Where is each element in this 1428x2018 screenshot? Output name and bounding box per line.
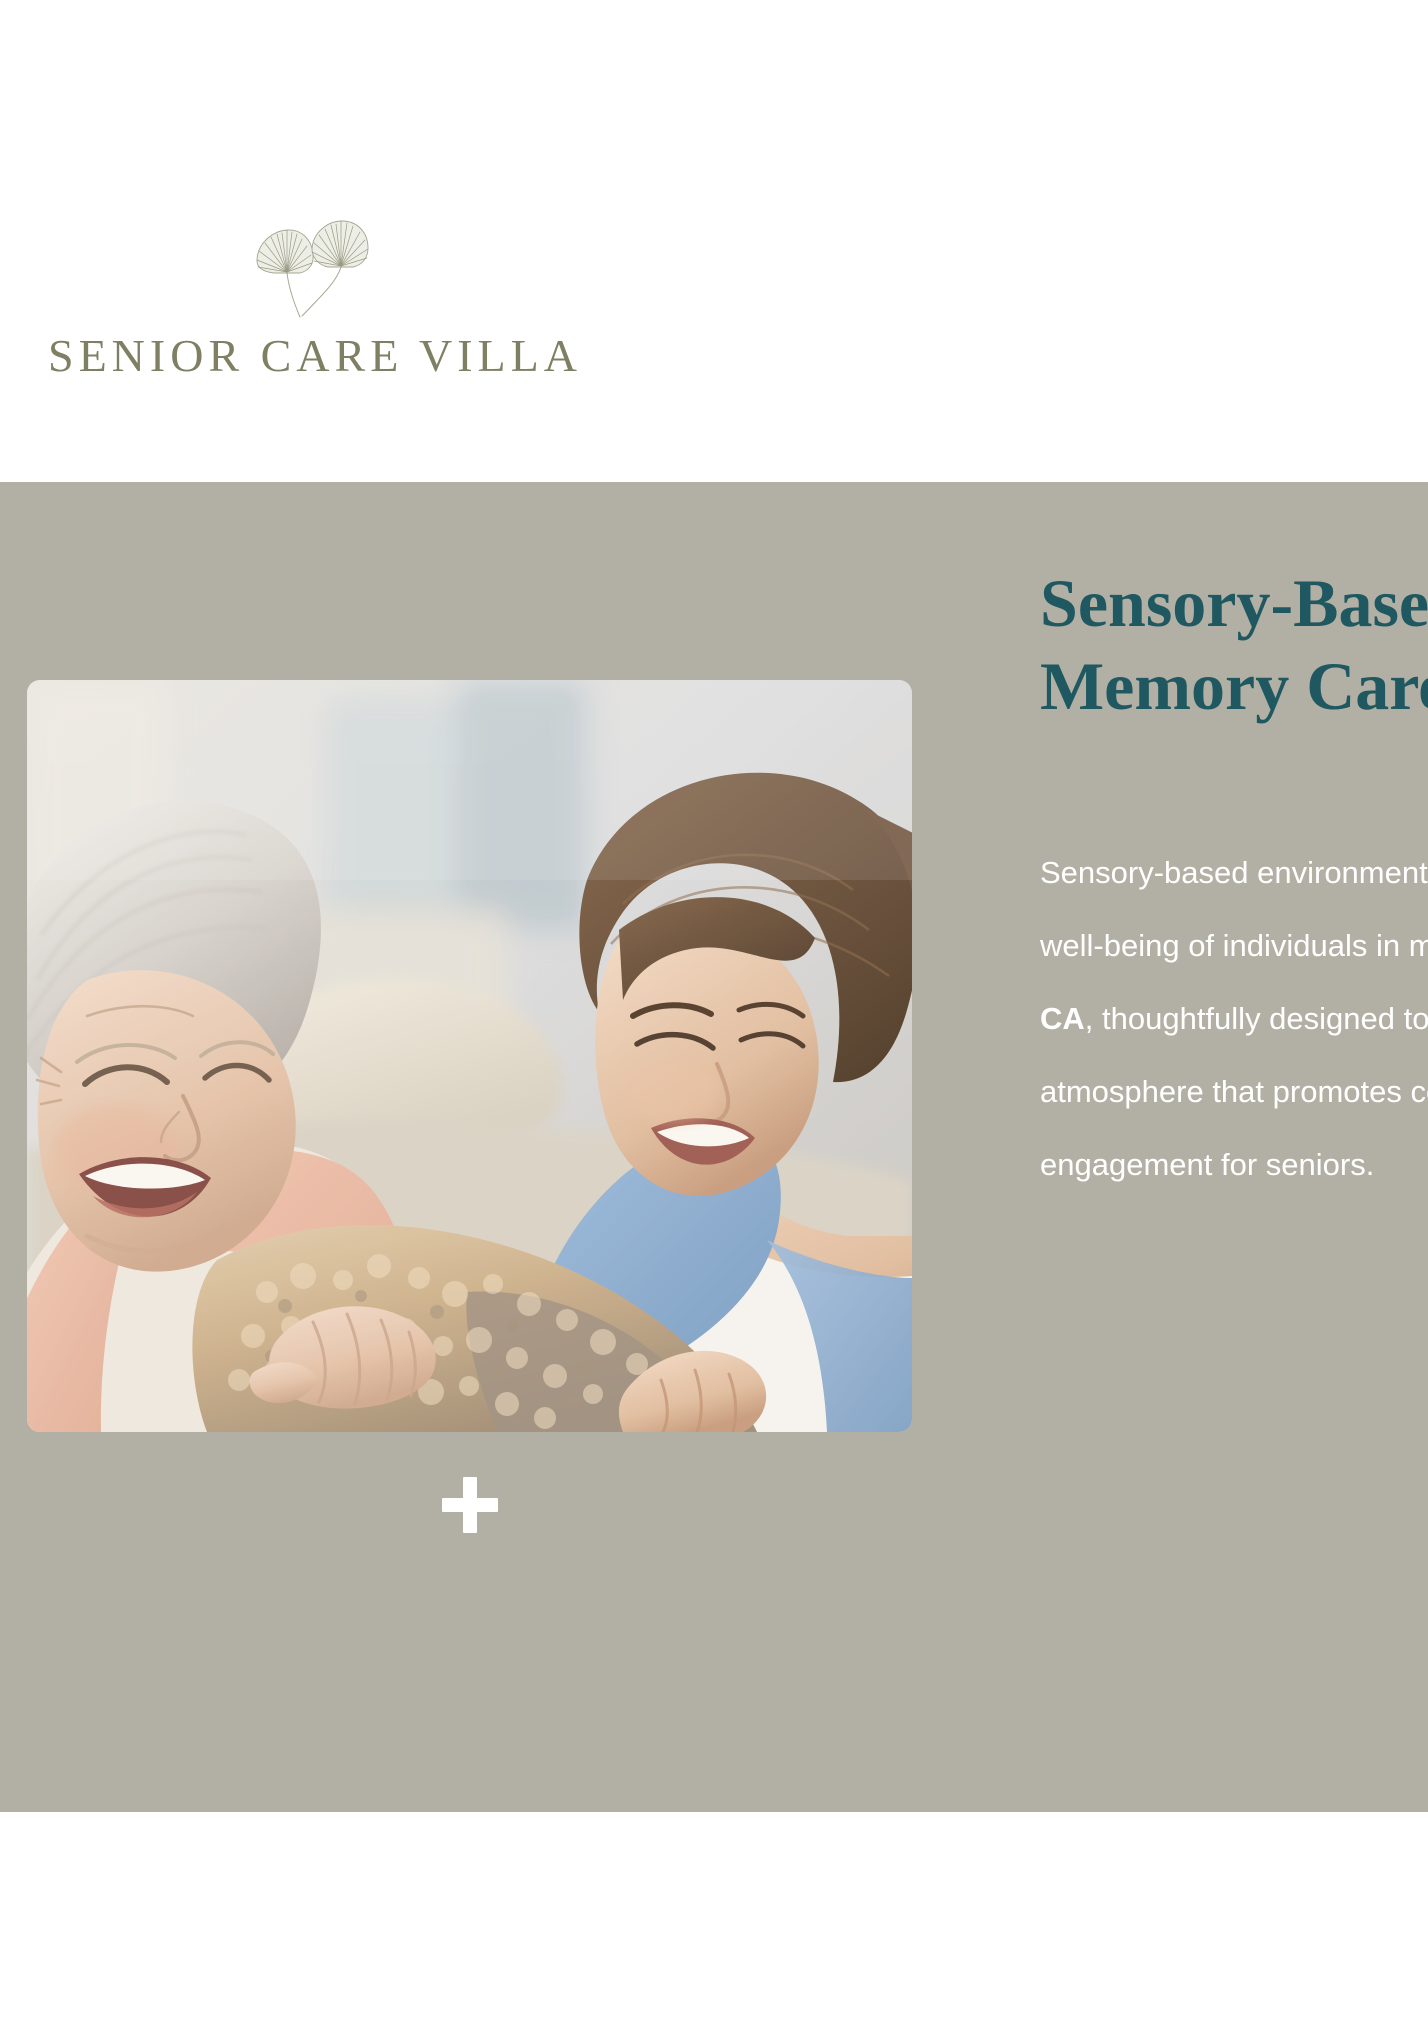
body-line-text: Sensory-based environments support the <box>1040 855 1428 890</box>
feature-body-copy: Sensory-based environments support the w… <box>1040 836 1428 1201</box>
body-line-bold: CA <box>1040 1001 1085 1036</box>
body-line: atmosphere that promotes comfort and <box>1040 1055 1428 1128</box>
body-line-text: , thoughtfully designed to create a calm… <box>1085 1001 1428 1036</box>
feature-headline: Sensory-Based Memory Care <box>1040 562 1428 728</box>
body-line: well-being of individuals in memory care… <box>1040 909 1428 982</box>
headline-line: Memory Care <box>1040 645 1428 728</box>
feature-media-column <box>27 680 912 1432</box>
body-line: engagement for seniors. <box>1040 1128 1428 1201</box>
ginkgo-leaf-logo-icon <box>240 215 380 325</box>
body-line-text: atmosphere that promotes comfort and <box>1040 1074 1428 1109</box>
body-line: Sensory-based environments support the <box>1040 836 1428 909</box>
plus-icon[interactable] <box>442 1477 498 1533</box>
body-line-text: engagement for seniors. <box>1040 1147 1374 1182</box>
site-header: SENIOR CARE VILLA <box>0 0 1428 482</box>
headline-line: Sensory-Based <box>1040 562 1428 645</box>
body-line: CA, thoughtfully designed to create a ca… <box>1040 982 1428 1055</box>
feature-photo[interactable] <box>27 680 912 1432</box>
feature-text-column: Sensory-Based Memory Care Sensory-based … <box>1040 562 1428 1201</box>
brand-logo[interactable]: SENIOR CARE VILLA <box>40 215 600 382</box>
body-line-text: well-being of individuals in memory care… <box>1040 928 1428 963</box>
brand-wordmark: SENIOR CARE VILLA <box>48 331 600 382</box>
feature-expand-control[interactable] <box>27 1450 912 1560</box>
feature-section: Sensory-Based Memory Care Sensory-based … <box>0 482 1428 1812</box>
